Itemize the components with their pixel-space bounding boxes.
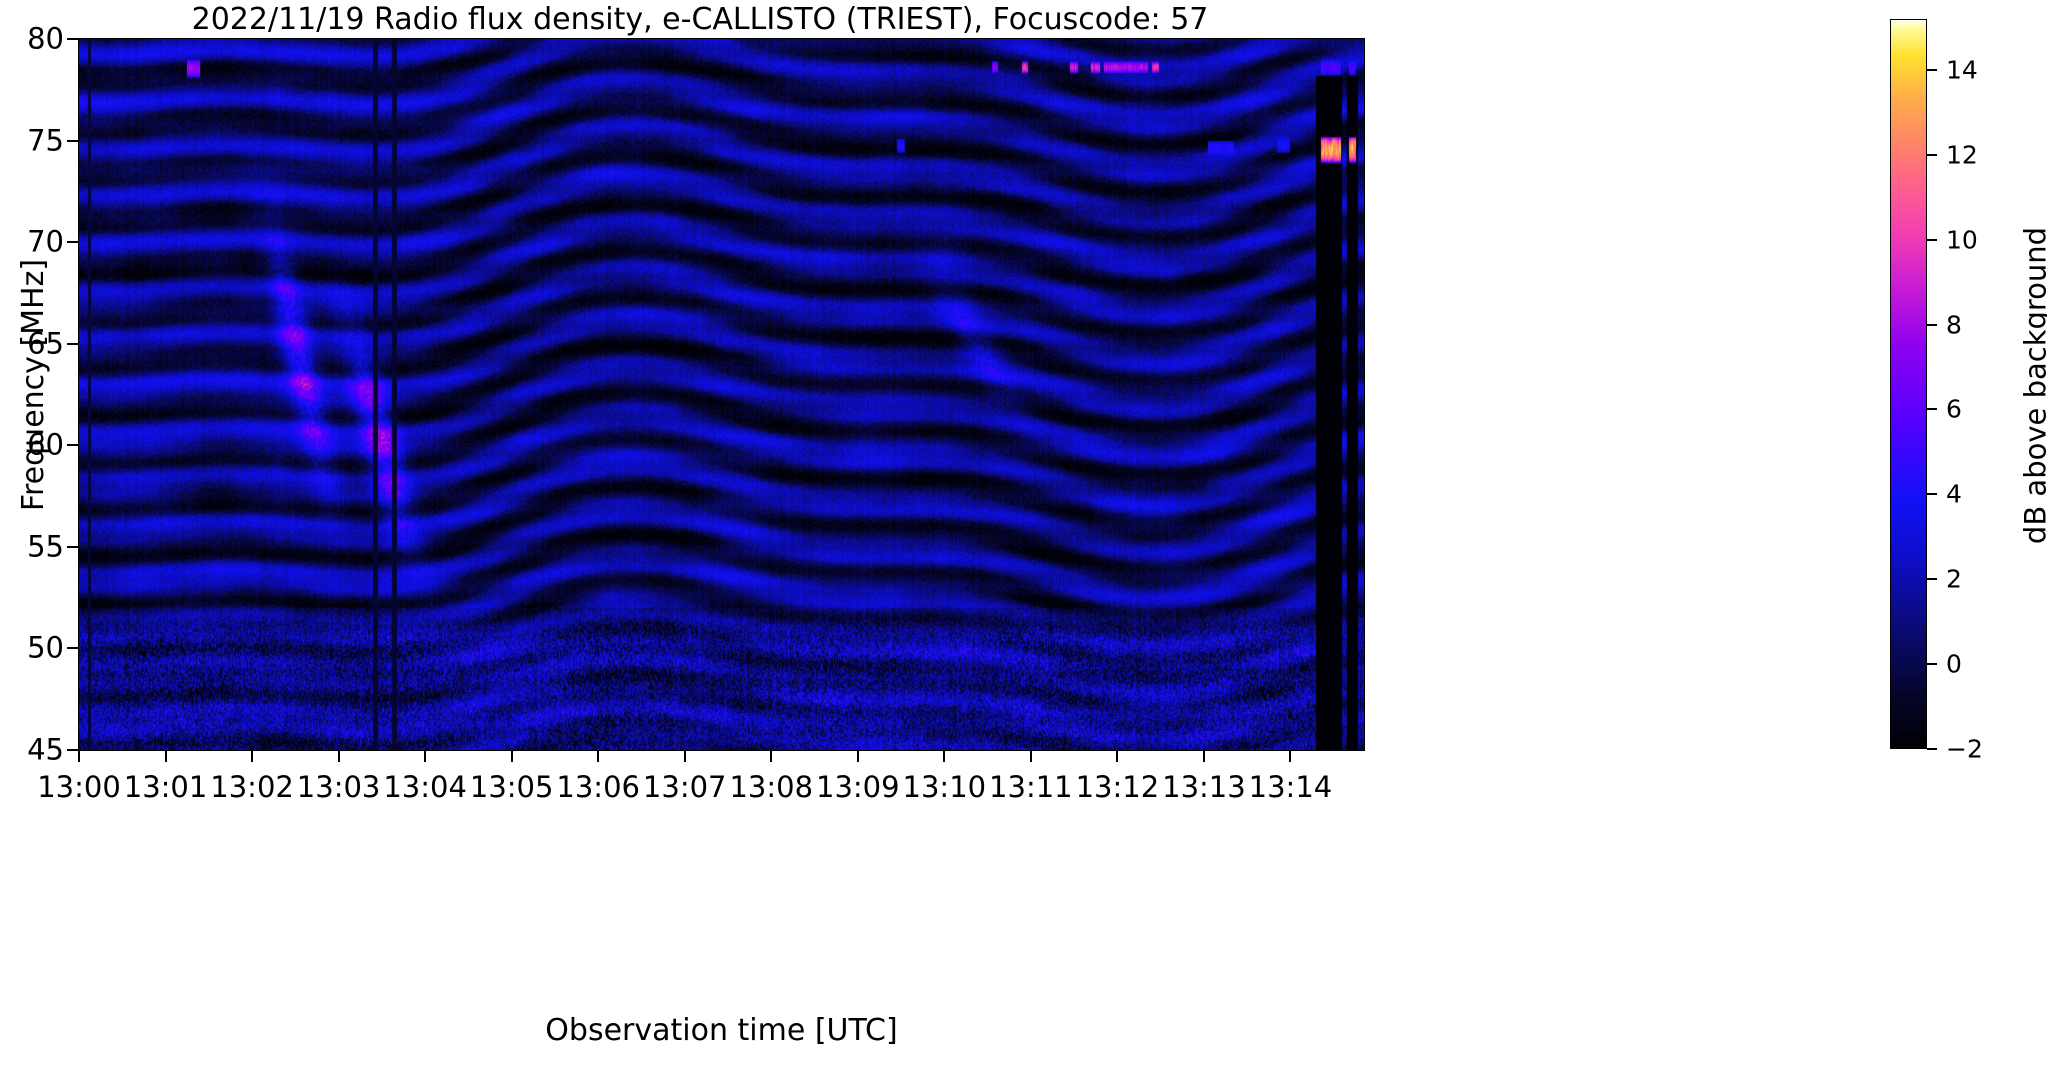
x-tick-mark-13-14 [1289, 751, 1291, 762]
y-tick-mark-80 [67, 38, 78, 40]
colorbar-tick-mark--2 [1927, 748, 1937, 750]
spectrogram-image [79, 39, 1364, 750]
y-tick-mark-70 [67, 241, 78, 243]
y-tick-mark-65 [67, 343, 78, 345]
colorbar-tick-label-12: 12 [1946, 142, 1978, 167]
y-tick-label-55: 55 [27, 532, 64, 561]
colorbar: dB above background 14121086420−2 [1890, 19, 2047, 769]
x-tick-label-13-11: 13:11 [989, 773, 1073, 802]
x-tick-mark-13-08 [770, 751, 772, 762]
colorbar-tick-mark-10 [1927, 239, 1937, 241]
y-tick-label-50: 50 [27, 634, 64, 663]
x-tick-label-13-06: 13:06 [556, 773, 640, 802]
y-tick-mark-55 [67, 546, 78, 548]
x-tick-label-13-14: 13:14 [1249, 773, 1333, 802]
colorbar-tick-label-6: 6 [1946, 397, 1962, 422]
x-tick-mark-13-00 [78, 751, 80, 762]
x-tick-label-13-13: 13:13 [1162, 773, 1246, 802]
y-tick-label-75: 75 [27, 126, 64, 155]
colorbar-tick-label--2: −2 [1946, 737, 1983, 762]
x-axis: 13:0013:0113:0213:0313:0413:0513:0613:07… [78, 751, 1365, 811]
y-tick-label-65: 65 [27, 329, 64, 358]
spectrogram-plot [78, 38, 1365, 751]
x-tick-label-13-05: 13:05 [470, 773, 554, 802]
x-tick-mark-13-05 [511, 751, 513, 762]
x-tick-label-13-00: 13:00 [37, 773, 121, 802]
colorbar-label: dB above background [2022, 86, 2047, 686]
x-tick-mark-13-03 [338, 751, 340, 762]
y-tick-label-45: 45 [27, 736, 64, 765]
page-title: 2022/11/19 Radio flux density, e-CALLIST… [0, 2, 1400, 38]
x-tick-mark-13-06 [597, 751, 599, 762]
x-tick-label-13-02: 13:02 [210, 773, 294, 802]
colorbar-tick-mark-0 [1927, 663, 1937, 665]
y-tick-label-70: 70 [27, 228, 64, 257]
y-tick-mark-50 [67, 647, 78, 649]
x-tick-label-13-03: 13:03 [297, 773, 381, 802]
x-axis-label: Observation time [UTC] [78, 1014, 1365, 1048]
x-tick-mark-13-11 [1030, 751, 1032, 762]
colorbar-tick-mark-12 [1927, 154, 1937, 156]
x-tick-mark-13-10 [943, 751, 945, 762]
y-tick-mark-75 [67, 140, 78, 142]
x-tick-label-13-07: 13:07 [643, 773, 727, 802]
x-tick-mark-13-01 [165, 751, 167, 762]
colorbar-tick-label-8: 8 [1946, 312, 1962, 337]
colorbar-tick-label-14: 14 [1946, 57, 1978, 82]
colorbar-tick-label-4: 4 [1946, 482, 1962, 507]
x-tick-mark-13-12 [1116, 751, 1118, 762]
colorbar-gradient [1891, 20, 1926, 748]
colorbar-tick-mark-6 [1927, 408, 1937, 410]
colorbar-tick-mark-4 [1927, 493, 1937, 495]
x-tick-mark-13-02 [251, 751, 253, 762]
y-tick-mark-60 [67, 444, 78, 446]
x-tick-label-13-04: 13:04 [383, 773, 467, 802]
y-axis-label: Frequency [MHz] [19, 105, 49, 665]
colorbar-tick-label-10: 10 [1946, 227, 1978, 252]
x-tick-label-13-12: 13:12 [1076, 773, 1160, 802]
x-tick-label-13-08: 13:08 [729, 773, 813, 802]
y-axis: Frequency [MHz] 8075706560555045 [0, 38, 78, 751]
colorbar-tick-label-2: 2 [1946, 567, 1962, 592]
colorbar-tick-mark-2 [1927, 578, 1937, 580]
x-tick-mark-13-13 [1203, 751, 1205, 762]
colorbar-tick-mark-14 [1927, 69, 1937, 71]
spectrogram-figure: 2022/11/19 Radio flux density, e-CALLIST… [0, 0, 2047, 1067]
y-tick-label-60: 60 [27, 431, 64, 460]
y-tick-label-80: 80 [27, 25, 64, 54]
y-tick-mark-45 [67, 749, 78, 751]
colorbar-bar [1890, 19, 1927, 749]
x-tick-label-13-01: 13:01 [124, 773, 208, 802]
x-tick-label-13-09: 13:09 [816, 773, 900, 802]
x-tick-mark-13-07 [684, 751, 686, 762]
x-tick-mark-13-04 [424, 751, 426, 762]
x-tick-label-13-10: 13:10 [903, 773, 987, 802]
colorbar-tick-label-0: 0 [1946, 652, 1962, 677]
colorbar-tick-mark-8 [1927, 324, 1937, 326]
x-tick-mark-13-09 [857, 751, 859, 762]
